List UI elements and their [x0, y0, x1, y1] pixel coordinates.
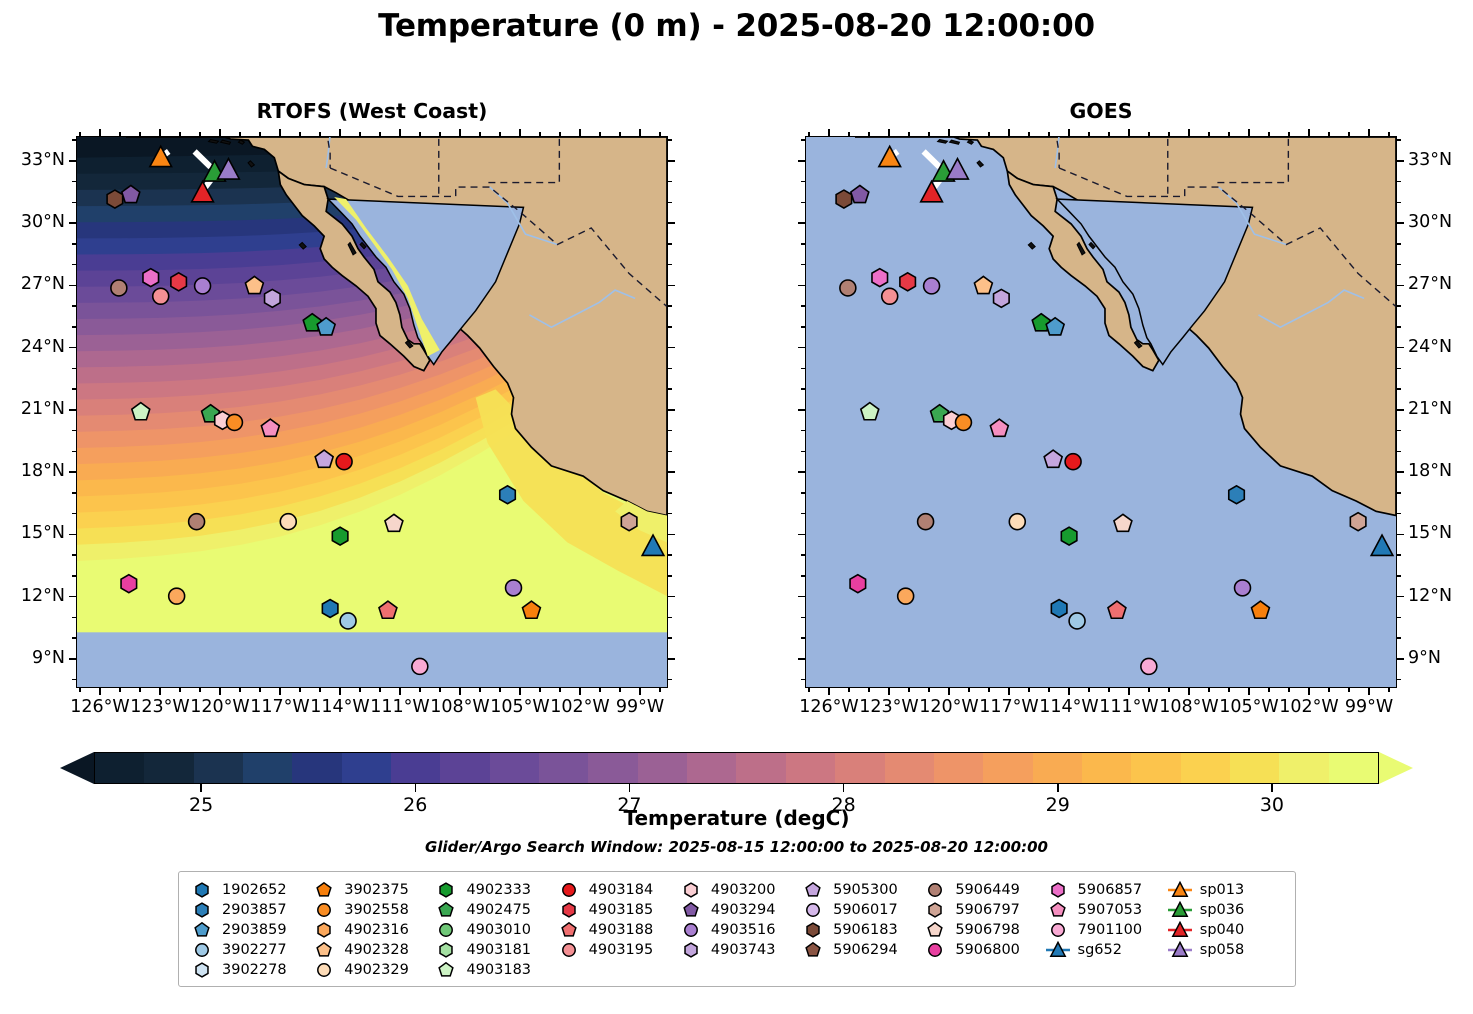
colorbar-segment — [243, 753, 292, 783]
x-tick-top — [1148, 132, 1150, 136]
colorbar-tick — [1057, 784, 1059, 792]
x-tick-top — [619, 132, 621, 136]
legend-label: 4902329 — [344, 962, 409, 978]
legend-item-sg652[interactable]: sg652 — [1045, 940, 1167, 960]
legend-marker-icon — [189, 880, 215, 900]
y-tick-right — [1397, 596, 1404, 598]
y-tick-right — [1397, 202, 1401, 204]
legend-item-5906017[interactable]: 5906017 — [800, 900, 922, 920]
y-tick-right — [1397, 554, 1401, 556]
x-tick-top — [479, 132, 481, 136]
x-tick-top — [1228, 132, 1230, 136]
y-tick-right — [668, 388, 672, 390]
y-tick — [801, 575, 805, 577]
y-axis-label: 15°N — [0, 523, 65, 543]
y-tick-right — [668, 658, 675, 660]
y-tick — [72, 430, 76, 432]
legend-marker-icon — [311, 940, 337, 960]
colorbar-extend-max — [1379, 752, 1413, 784]
x-tick-top — [1288, 132, 1290, 136]
x-tick-top — [1248, 129, 1250, 136]
legend-item-4903743[interactable]: 4903743 — [678, 940, 800, 960]
legend-marker-icon — [189, 940, 215, 960]
x-axis-label: 99°W — [1324, 697, 1414, 717]
y-tick — [69, 285, 76, 287]
y-tick-right — [1397, 617, 1401, 619]
y-tick — [72, 513, 76, 515]
map-marker[interactable] — [1235, 580, 1251, 596]
y-tick — [72, 202, 76, 204]
colorbar-segment — [983, 753, 1032, 783]
legend-label: 5906294 — [833, 942, 898, 958]
x-tick-top — [1388, 132, 1390, 136]
x-tick-top — [199, 132, 201, 136]
legend-item-5906797[interactable]: 5906797 — [922, 900, 1044, 920]
legend-marker-icon — [922, 940, 948, 960]
legend-item-3902277[interactable]: 3902277 — [189, 940, 311, 960]
map-panel-rtofs[interactable] — [76, 136, 668, 688]
colorbar-segment — [638, 753, 687, 783]
map-marker[interactable] — [1069, 613, 1085, 629]
colorbar-extend-min — [60, 752, 94, 784]
y-tick — [798, 471, 805, 473]
legend-label: 4903188 — [589, 922, 654, 938]
y-tick-right — [1397, 160, 1404, 162]
legend-item-4903195[interactable]: 4903195 — [556, 940, 678, 960]
x-tick-top — [279, 129, 281, 136]
x-tick-top — [419, 132, 421, 136]
map-marker[interactable] — [1141, 658, 1157, 674]
x-tick — [1348, 688, 1350, 692]
legend-item-2903857[interactable]: 2903857 — [189, 900, 311, 920]
map-marker[interactable] — [1061, 527, 1077, 545]
y-tick — [69, 471, 76, 473]
legend-marker-icon — [556, 940, 582, 960]
legend-item-4903010[interactable]: 4903010 — [433, 920, 555, 940]
legend-item-sp013[interactable]: sp013 — [1167, 880, 1289, 900]
y-tick — [798, 160, 805, 162]
colorbar-gradient — [94, 752, 1379, 784]
map-marker[interactable] — [1009, 514, 1025, 530]
colorbar-segment — [1329, 753, 1378, 783]
y-tick-right — [668, 202, 672, 204]
legend-label: 4902333 — [466, 882, 531, 898]
x-tick — [1268, 688, 1270, 692]
colorbar-segment — [934, 753, 983, 783]
legend-item-7901100[interactable]: 7901100 — [1045, 920, 1167, 940]
x-tick-top — [599, 132, 601, 136]
x-tick — [1068, 688, 1070, 695]
y-tick — [69, 658, 76, 660]
x-tick — [1088, 688, 1090, 692]
legend-item-3902558[interactable]: 3902558 — [311, 900, 433, 920]
y-tick-right — [668, 451, 672, 453]
y-tick-right — [1397, 471, 1404, 473]
map-marker[interactable] — [924, 278, 940, 294]
y-tick — [801, 305, 805, 307]
legend-item-4903188[interactable]: 4903188 — [556, 920, 678, 940]
y-axis-label: 27°N — [0, 274, 65, 294]
map-marker[interactable] — [840, 280, 856, 296]
legend-item-sp058[interactable]: sp058 — [1167, 940, 1289, 960]
x-tick-top — [659, 132, 661, 136]
x-tick-top — [259, 132, 261, 136]
legend-item-5906183[interactable]: 5906183 — [800, 920, 922, 940]
x-tick-top — [139, 132, 141, 136]
x-tick-top — [319, 132, 321, 136]
x-tick-top — [1108, 132, 1110, 136]
map-marker[interactable] — [153, 288, 169, 304]
map-marker[interactable] — [195, 278, 211, 294]
map-marker[interactable] — [506, 580, 522, 596]
platform-legend: 1902652290385729038593902277390227839023… — [178, 871, 1296, 987]
map-marker[interactable] — [994, 289, 1010, 307]
y-tick-right — [1397, 222, 1404, 224]
y-tick-right — [1397, 430, 1401, 432]
legend-label: 4903294 — [711, 902, 776, 918]
legend-item-4903181[interactable]: 4903181 — [433, 940, 555, 960]
legend-marker-icon — [678, 920, 704, 940]
x-tick — [319, 688, 321, 692]
y-tick — [801, 430, 805, 432]
y-tick-right — [668, 285, 675, 287]
colorbar-segment — [786, 753, 835, 783]
legend-item-4903183[interactable]: 4903183 — [433, 960, 555, 980]
x-tick-top — [968, 132, 970, 136]
x-tick — [888, 688, 890, 695]
goes-map-svg — [806, 137, 1396, 687]
y-tick — [801, 388, 805, 390]
y-tick — [72, 368, 76, 370]
x-tick — [968, 688, 970, 692]
map-marker[interactable] — [107, 190, 123, 208]
y-tick-right — [1397, 368, 1401, 370]
map-marker[interactable] — [121, 575, 137, 593]
legend-label: 2903857 — [222, 902, 287, 918]
x-tick-top — [379, 132, 381, 136]
legend-item-4902333[interactable]: 4902333 — [433, 880, 555, 900]
y-tick-right — [668, 222, 675, 224]
y-axis-label: 15°N — [1408, 523, 1452, 543]
map-marker[interactable] — [836, 190, 852, 208]
x-tick-top — [299, 132, 301, 136]
x-tick-top — [79, 132, 81, 136]
legend-item-4902316[interactable]: 4902316 — [311, 920, 433, 940]
colorbar-segment — [490, 753, 539, 783]
map-marker[interactable] — [898, 588, 914, 604]
x-tick — [539, 688, 541, 692]
legend-item-4902475[interactable]: 4902475 — [433, 900, 555, 920]
x-tick-top — [828, 129, 830, 136]
colorbar-segment — [292, 753, 341, 783]
colorbar-tick — [1271, 784, 1273, 792]
x-tick — [479, 688, 481, 692]
map-marker[interactable] — [412, 658, 428, 674]
map-marker[interactable] — [1350, 513, 1366, 531]
legend-item-5906857[interactable]: 5906857 — [1045, 880, 1167, 900]
map-panel-goes[interactable] — [805, 136, 1397, 688]
colorbar-segment — [1181, 753, 1230, 783]
legend-item-4902329[interactable]: 4902329 — [311, 960, 433, 980]
legend-marker-icon — [1167, 900, 1193, 920]
map-marker[interactable] — [265, 289, 281, 307]
x-tick — [219, 688, 221, 695]
y-tick-right — [668, 305, 672, 307]
legend-label: 5906449 — [955, 882, 1020, 898]
y-axis-label: 24°N — [0, 337, 65, 357]
legend-marker-icon — [311, 920, 337, 940]
y-tick-right — [1397, 181, 1401, 183]
y-axis-label: 30°N — [0, 212, 65, 232]
y-tick — [69, 347, 76, 349]
legend-marker-icon — [189, 900, 215, 920]
legend-marker-icon — [311, 900, 337, 920]
colorbar-segment — [1082, 753, 1131, 783]
colorbar-segment — [95, 753, 144, 783]
y-tick — [798, 285, 805, 287]
map-marker[interactable] — [900, 273, 916, 291]
legend-marker-icon — [556, 880, 582, 900]
legend-item-1902652[interactable]: 1902652 — [189, 880, 311, 900]
map-marker[interactable] — [280, 514, 296, 530]
x-tick — [908, 688, 910, 692]
y-tick-right — [1397, 451, 1401, 453]
x-tick — [659, 688, 661, 692]
legend-label: 5906798 — [955, 922, 1020, 938]
legend-label: 3902278 — [222, 962, 287, 978]
map-marker[interactable] — [189, 514, 205, 530]
x-tick — [399, 688, 401, 695]
x-tick-top — [1128, 129, 1130, 136]
legend-marker-icon — [1167, 940, 1193, 960]
y-tick — [798, 596, 805, 598]
y-tick-right — [668, 139, 672, 141]
x-tick — [299, 688, 301, 692]
legend-item-4903516[interactable]: 4903516 — [678, 920, 800, 940]
legend-label: sp013 — [1200, 882, 1244, 898]
map-marker[interactable] — [340, 613, 356, 629]
y-tick — [72, 326, 76, 328]
legend-item-5907053[interactable]: 5907053 — [1045, 900, 1167, 920]
legend-label: 4903183 — [466, 962, 531, 978]
map-marker[interactable] — [169, 588, 185, 604]
legend-label: 4902316 — [344, 922, 409, 938]
legend-item-4903184[interactable]: 4903184 — [556, 880, 678, 900]
legend-label: 5907053 — [1078, 902, 1143, 918]
x-tick — [459, 688, 461, 695]
legend-marker-icon — [433, 880, 459, 900]
x-tick — [1148, 688, 1150, 692]
y-tick — [72, 305, 76, 307]
legend-marker-icon — [433, 940, 459, 960]
legend-item-5905300[interactable]: 5905300 — [800, 880, 922, 900]
legend-label: 3902375 — [344, 882, 409, 898]
legend-item-4903294[interactable]: 4903294 — [678, 900, 800, 920]
x-tick-top — [988, 132, 990, 136]
map-marker[interactable] — [621, 513, 637, 531]
y-tick-right — [668, 596, 675, 598]
map-marker[interactable] — [322, 600, 338, 618]
y-tick-right — [1397, 409, 1404, 411]
y-tick-right — [1397, 285, 1404, 287]
x-tick — [639, 688, 641, 695]
legend-item-3902375[interactable]: 3902375 — [311, 880, 433, 900]
x-tick — [988, 688, 990, 692]
legend-item-4902328[interactable]: 4902328 — [311, 940, 433, 960]
y-tick-right — [668, 471, 675, 473]
y-tick — [801, 492, 805, 494]
legend-label: 3902558 — [344, 902, 409, 918]
legend-marker-icon — [678, 880, 704, 900]
x-tick-top — [888, 129, 890, 136]
legend-item-sp036[interactable]: sp036 — [1167, 900, 1289, 920]
legend-label: sp040 — [1200, 922, 1244, 938]
x-tick-top — [1328, 132, 1330, 136]
map-marker[interactable] — [882, 288, 898, 304]
x-tick — [559, 688, 561, 692]
x-tick-top — [219, 129, 221, 136]
x-tick-top — [808, 132, 810, 136]
x-tick-top — [399, 129, 401, 136]
x-tick-top — [1068, 129, 1070, 136]
colorbar-segment — [687, 753, 736, 783]
y-tick-right — [668, 160, 675, 162]
y-tick-right — [668, 554, 672, 556]
colorbar-segment — [391, 753, 440, 783]
map-marker[interactable] — [850, 575, 866, 593]
x-tick-top — [559, 132, 561, 136]
x-tick-top — [1048, 132, 1050, 136]
y-axis-label: 21°N — [1408, 399, 1452, 419]
legend-item-2903859[interactable]: 2903859 — [189, 920, 311, 940]
x-tick — [119, 688, 121, 692]
legend-item-5906449[interactable]: 5906449 — [922, 880, 1044, 900]
legend-marker-icon — [800, 940, 826, 960]
y-tick-right — [668, 637, 672, 639]
y-tick — [72, 637, 76, 639]
map-marker[interactable] — [226, 414, 242, 430]
y-tick — [72, 243, 76, 245]
map-marker[interactable] — [336, 454, 352, 470]
y-tick-right — [1397, 658, 1404, 660]
y-tick-right — [668, 534, 675, 536]
y-tick — [72, 554, 76, 556]
x-tick — [159, 688, 161, 695]
y-tick — [801, 679, 805, 681]
y-tick — [798, 222, 805, 224]
map-marker[interactable] — [171, 273, 187, 291]
y-tick — [72, 492, 76, 494]
legend-label: 4903200 — [711, 882, 776, 898]
colorbar-segment — [194, 753, 243, 783]
legend-marker-icon — [678, 940, 704, 960]
legend-item-3902278[interactable]: 3902278 — [189, 960, 311, 980]
colorbar-tick — [415, 784, 417, 792]
panel-title-rtofs: RTOFS (West Coast) — [76, 99, 668, 123]
x-tick-top — [239, 132, 241, 136]
x-tick — [259, 688, 261, 692]
x-tick — [1188, 688, 1190, 695]
map-marker[interactable] — [955, 414, 971, 430]
x-tick — [359, 688, 361, 692]
legend-label: 4903516 — [711, 922, 776, 938]
map-marker[interactable] — [1051, 600, 1067, 618]
rtofs-map-svg — [77, 137, 667, 687]
x-tick — [1388, 688, 1390, 692]
colorbar-segment — [885, 753, 934, 783]
legend-marker-icon — [922, 920, 948, 940]
x-tick — [519, 688, 521, 695]
legend-label: sp058 — [1200, 942, 1244, 958]
legend-label: 4903010 — [466, 922, 531, 938]
y-tick — [72, 264, 76, 266]
legend-item-sp040[interactable]: sp040 — [1167, 920, 1289, 940]
legend-marker-icon — [1045, 880, 1071, 900]
legend-marker-icon — [678, 900, 704, 920]
map-marker[interactable] — [500, 486, 516, 504]
x-tick-top — [579, 129, 581, 136]
y-tick — [801, 554, 805, 556]
x-tick — [948, 688, 950, 695]
legend-marker-icon — [1045, 900, 1071, 920]
legend-marker-icon — [800, 880, 826, 900]
x-tick — [1008, 688, 1010, 695]
x-tick-top — [1348, 132, 1350, 136]
x-tick — [1108, 688, 1110, 692]
x-tick — [808, 688, 810, 692]
map-marker[interactable] — [143, 269, 159, 287]
y-tick-right — [1397, 388, 1401, 390]
map-marker[interactable] — [111, 280, 127, 296]
x-tick — [1328, 688, 1330, 692]
y-tick-right — [668, 617, 672, 619]
legend-marker-icon — [556, 900, 582, 920]
y-tick-right — [1397, 305, 1401, 307]
x-tick-top — [868, 132, 870, 136]
legend-marker-icon — [433, 900, 459, 920]
colorbar-segment — [539, 753, 588, 783]
x-tick — [619, 688, 621, 692]
legend-item-4903185[interactable]: 4903185 — [556, 900, 678, 920]
x-tick — [1228, 688, 1230, 692]
map-marker[interactable] — [1229, 486, 1245, 504]
y-tick-right — [1397, 347, 1404, 349]
y-tick-right — [668, 409, 675, 411]
legend-item-5906800[interactable]: 5906800 — [922, 940, 1044, 960]
map-marker[interactable] — [872, 269, 888, 287]
map-marker[interactable] — [918, 514, 934, 530]
x-tick-top — [119, 132, 121, 136]
y-tick — [72, 388, 76, 390]
legend-item-4903200[interactable]: 4903200 — [678, 880, 800, 900]
legend-marker-icon — [189, 960, 215, 980]
y-tick-right — [1397, 492, 1401, 494]
map-marker[interactable] — [1065, 454, 1081, 470]
legend-label: sp036 — [1200, 902, 1244, 918]
map-marker[interactable] — [332, 527, 348, 545]
legend-label: 4903743 — [711, 942, 776, 958]
x-tick-top — [928, 132, 930, 136]
y-tick — [72, 181, 76, 183]
x-tick-top — [439, 132, 441, 136]
legend-item-5906294[interactable]: 5906294 — [800, 940, 922, 960]
x-tick-top — [1208, 132, 1210, 136]
legend-item-5906798[interactable]: 5906798 — [922, 920, 1044, 940]
x-tick-top — [1168, 132, 1170, 136]
x-tick — [1048, 688, 1050, 692]
y-tick-right — [1397, 264, 1401, 266]
x-tick — [868, 688, 870, 692]
